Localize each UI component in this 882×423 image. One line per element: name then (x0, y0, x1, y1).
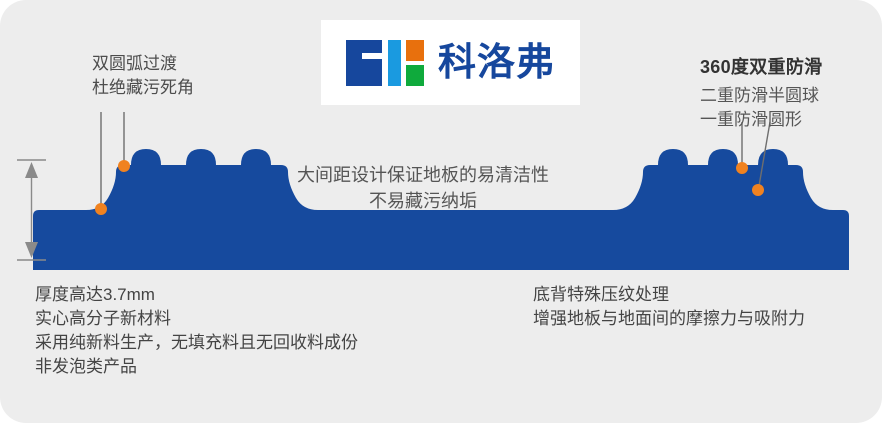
annotation-center-line-2: 不易藏污纳垢 (297, 189, 549, 215)
logo-tile-bar-light-blue (388, 40, 401, 86)
annotation-center-line-1: 大间距设计保证地板的易清洁性 (297, 163, 549, 189)
annotation-bottom-left: 厚度高达3.7mm 实心高分子新材料 采用纯新料生产，无填充料且无回收料成份 非… (35, 283, 358, 380)
annotation-bottom-left-line-1: 厚度高达3.7mm (35, 283, 358, 307)
annotation-bottom-left-line-3: 采用纯新料生产，无填充料且无回收料成份 (35, 331, 358, 355)
leader-line-left-arc-transition (118, 112, 130, 172)
annotation-left: 双圆弧过渡 杜绝藏污死角 (92, 52, 194, 100)
annotation-center: 大间距设计保证地板的易清洁性 不易藏污纳垢 (297, 163, 549, 214)
clf-logo-mark (346, 40, 424, 86)
logo-tile-square-green (406, 65, 424, 86)
annotation-left-line-1: 双圆弧过渡 (92, 52, 194, 76)
annotation-bottom-left-line-4: 非发泡类产品 (35, 355, 358, 379)
annotation-right-line-2: 一重防滑圆形 (700, 108, 822, 132)
infographic-canvas: 科洛弗 双圆弧过渡 杜绝藏污死角 360度双重防滑 二重防滑半圆球 一重防滑圆形… (0, 0, 882, 423)
brand-wordmark: 科洛弗 (438, 44, 555, 82)
annotation-bottom-right-line-1: 底背特殊压纹处理 (533, 283, 805, 307)
brand-logo-box: 科洛弗 (321, 20, 580, 105)
annotation-bottom-right-line-2: 增强地板与地面间的摩擦力与吸附力 (533, 307, 805, 331)
logo-tile-c-dark-blue (346, 40, 382, 86)
logo-tile-square-orange (406, 40, 424, 61)
annotation-bottom-right: 底背特殊压纹处理 增强地板与地面间的摩擦力与吸附力 (533, 283, 805, 331)
annotation-right-line-1: 二重防滑半圆球 (700, 84, 822, 108)
annotation-right-heading: 360度双重防滑 (700, 55, 822, 81)
annotation-right: 360度双重防滑 二重防滑半圆球 一重防滑圆形 (700, 55, 822, 132)
annotation-bottom-left-line-2: 实心高分子新材料 (35, 307, 358, 331)
annotation-left-line-2: 杜绝藏污死角 (92, 76, 194, 100)
leader-line-left-base-transition (95, 112, 107, 215)
